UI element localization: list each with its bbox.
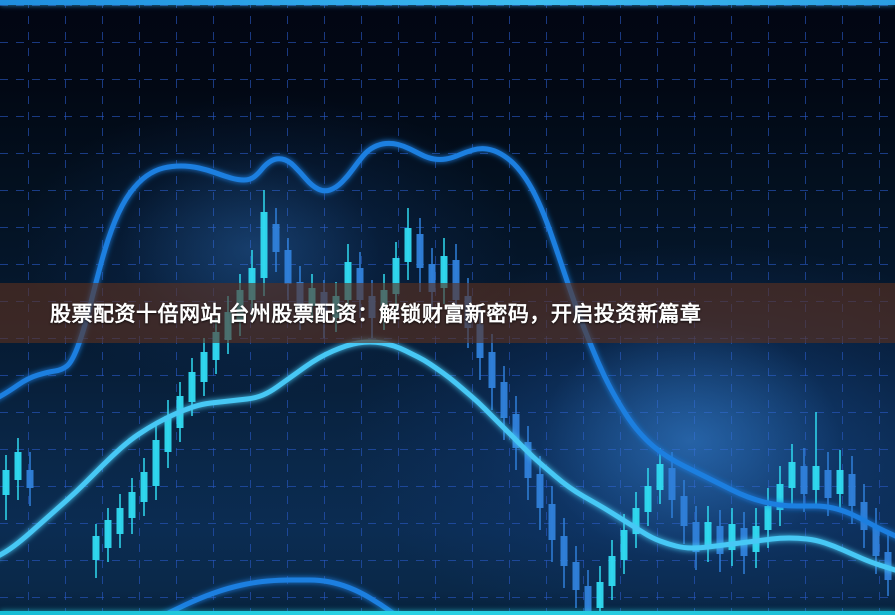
candle-body [501,382,508,418]
candle-body [849,474,856,506]
candle-body [609,556,616,586]
candle-body [837,470,844,494]
candle-body [3,470,10,495]
candle-body [189,372,196,402]
ma-line-ma-slow [0,580,895,615]
candle-body [27,470,34,488]
candle-body [273,224,280,252]
candle-body [261,212,268,278]
bottom-accent-bar [0,611,895,615]
candle-body [717,526,724,554]
candle-body [801,466,808,494]
candle-body [765,506,772,530]
candle-body [705,522,712,548]
top-accent-bar [0,0,895,5]
candle-body [621,530,628,560]
candle-body [201,352,208,382]
candle-body [537,474,544,508]
candle-body [129,492,136,518]
glow-hotspot [540,320,840,560]
candle-body [15,452,22,480]
candle-body [105,520,112,548]
candle-body [789,462,796,488]
candle-body [669,468,676,500]
candle-body [825,470,832,498]
candle-body [573,562,580,590]
candle-body [285,250,292,284]
candle-body [153,440,160,486]
caption-title: 股票配资十倍网站 台州股票配资：解锁财富新密码，开启投资新篇章 [50,298,701,328]
candle-body [93,536,100,560]
candle-body [489,352,496,388]
candle-body [861,502,868,530]
candle-body [141,472,148,502]
candle-body [117,508,124,534]
candle-body [585,586,592,612]
candle-body [657,464,664,490]
candle-body [405,228,412,262]
candle-body [549,504,556,540]
candle-body [417,234,424,268]
candle-body [645,486,652,512]
banner-image: 股票配资十倍网站 台州股票配资：解锁财富新密码，开启投资新篇章 [0,0,895,615]
candle-body [597,582,604,608]
caption-overlay-band: 股票配资十倍网站 台州股票配资：解锁财富新密码，开启投资新篇章 [0,283,895,343]
candle-body [165,416,172,452]
candle-body [813,466,820,490]
candle-body [681,496,688,526]
candle-body [561,536,568,566]
